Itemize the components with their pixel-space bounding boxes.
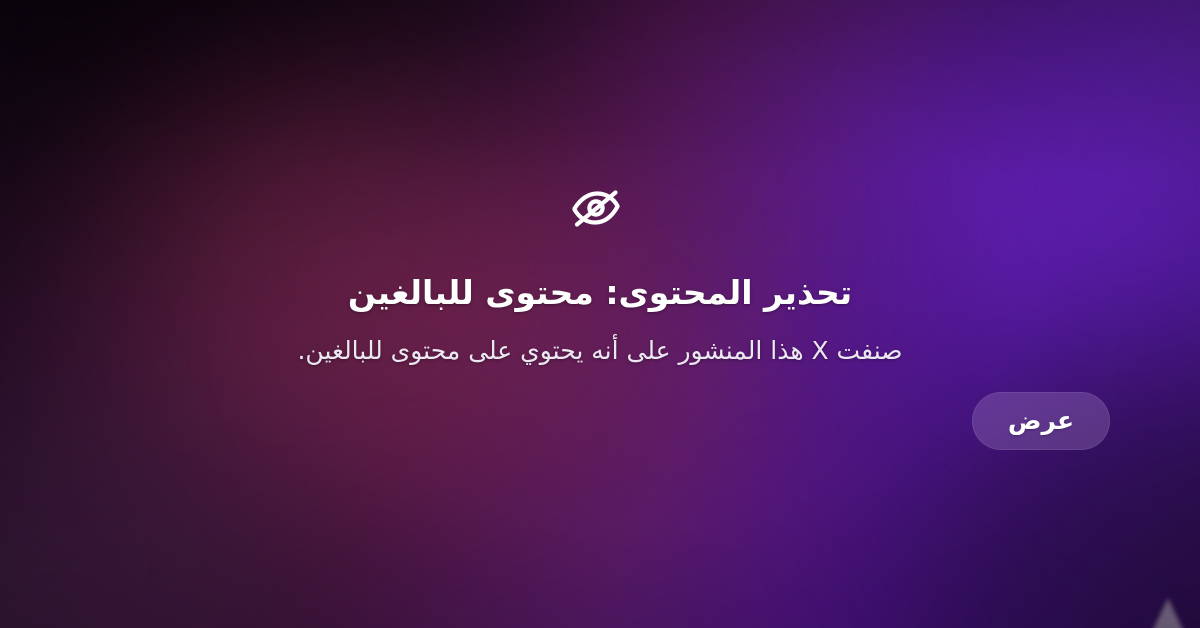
view-content-button[interactable]: عرض bbox=[972, 392, 1110, 450]
warning-content: تحذير المحتوى: محتوى للبالغين صنفت X هذا… bbox=[0, 0, 1200, 628]
warning-title: تحذير المحتوى: محتوى للبالغين bbox=[348, 272, 852, 314]
eye-off-icon bbox=[565, 178, 625, 238]
warning-inner: تحذير المحتوى: محتوى للبالغين صنفت X هذا… bbox=[90, 178, 1110, 451]
content-warning-screen: تحذير المحتوى: محتوى للبالغين صنفت X هذا… bbox=[0, 0, 1200, 628]
warning-actions: عرض bbox=[90, 392, 1110, 450]
warning-description: صنفت X هذا المنشور على أنه يحتوي على محت… bbox=[297, 333, 902, 369]
